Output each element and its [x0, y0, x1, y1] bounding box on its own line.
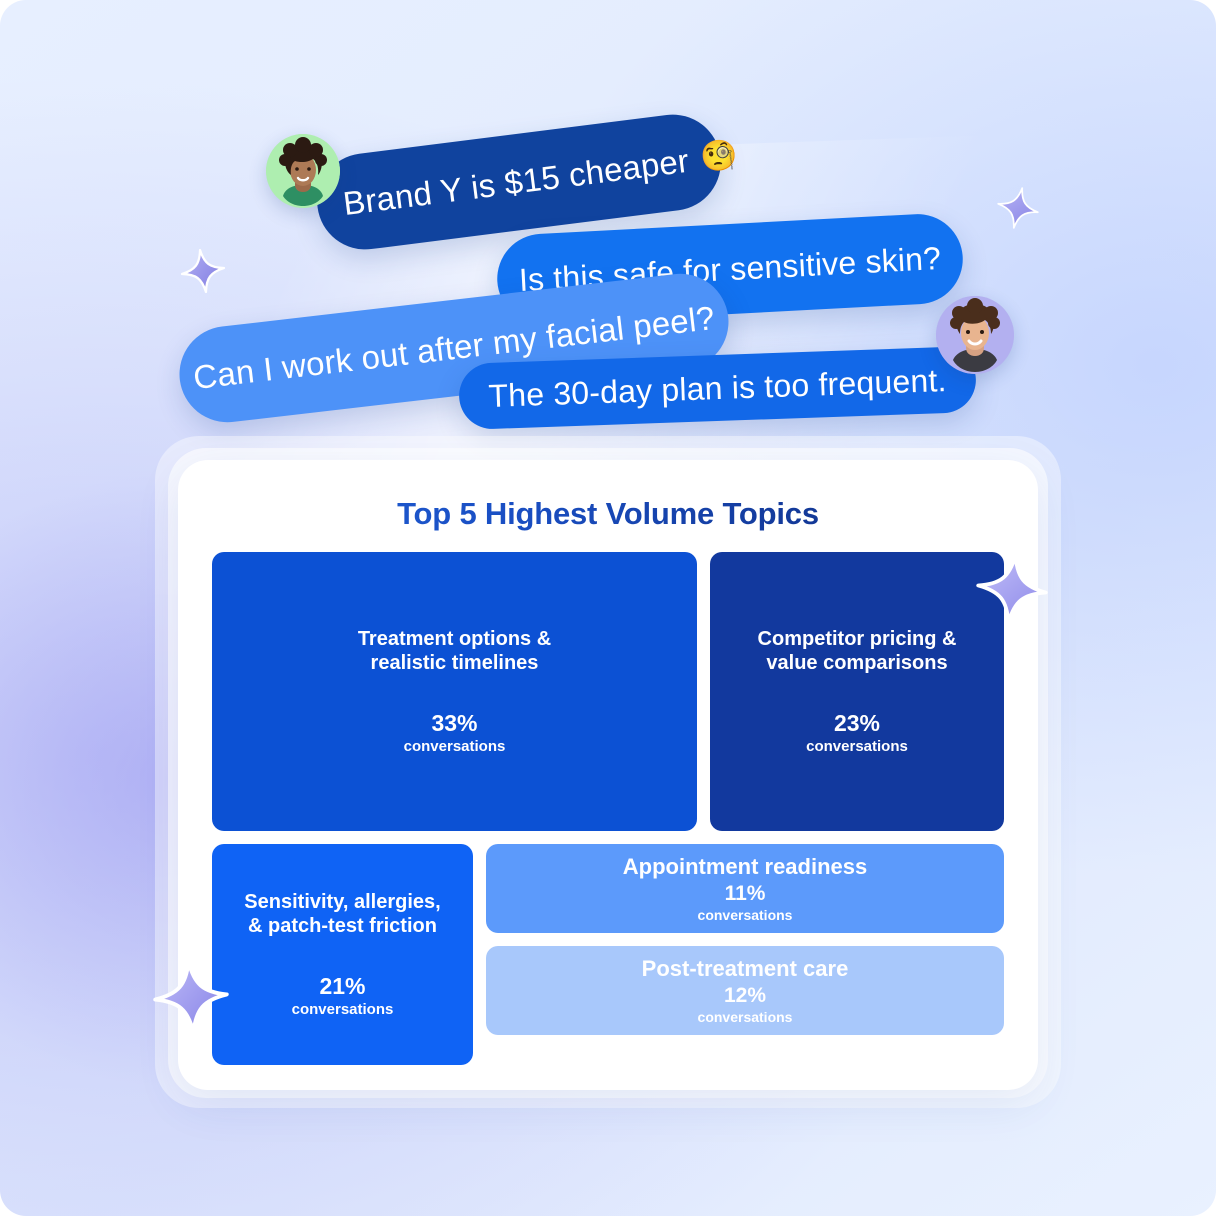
- treemap-tile-percent: 23%: [834, 710, 880, 737]
- chat-bubble-1-text: Brand Y is $15 cheaper: [341, 142, 691, 223]
- treemap-tile-percent: 21%: [319, 973, 365, 1000]
- treemap-tile-label: Post-treatment care: [642, 956, 849, 982]
- tile-label-line-1: Treatment options &: [358, 628, 551, 650]
- treemap-chart: Treatment options & realistic timelines …: [212, 552, 1004, 1065]
- treemap-tile-competitor-pricing[interactable]: Competitor pricing & value comparisons 2…: [710, 552, 1004, 831]
- treemap-tile-sensitivity-allergies[interactable]: Sensitivity, allergies, & patch-test fri…: [212, 844, 473, 1065]
- treemap-tile-percent: 11%: [725, 882, 766, 906]
- treemap-row-top: Treatment options & realistic timelines …: [212, 552, 1004, 831]
- treemap-tile-label: Treatment options & realistic timelines: [358, 628, 551, 675]
- treemap-tile-label: Sensitivity, allergies, & patch-test fri…: [244, 891, 440, 938]
- sparkle-icon: [992, 182, 1044, 234]
- treemap-column-right: Appointment readiness 11% conversations …: [486, 844, 1004, 1065]
- treemap-tile-post-treatment-care[interactable]: Post-treatment care 12% conversations: [486, 946, 1004, 1035]
- tile-label-line-1: Competitor pricing &: [758, 628, 957, 650]
- tile-label-line-2: realistic timelines: [371, 652, 539, 674]
- treemap-tile-unit: conversations: [292, 1001, 394, 1018]
- treemap-tile-percent: 12%: [724, 984, 766, 1008]
- tile-label-line-1: Sensitivity, allergies,: [244, 891, 440, 913]
- treemap-tile-appointment-readiness[interactable]: Appointment readiness 11% conversations: [486, 844, 1004, 933]
- avatar-man-curly-hair: [936, 296, 1014, 374]
- treemap-tile-unit: conversations: [698, 907, 793, 923]
- treemap-tile-percent: 33%: [431, 710, 477, 737]
- treemap-row-bottom: Sensitivity, allergies, & patch-test fri…: [212, 844, 1004, 1065]
- avatar-woman-curly-hair: [266, 134, 340, 208]
- treemap-tile-unit: conversations: [806, 738, 908, 755]
- treemap-tile-unit: conversations: [404, 738, 506, 755]
- tile-label-line-2: & patch-test friction: [248, 915, 437, 937]
- treemap-tile-label: Appointment readiness: [623, 854, 867, 880]
- page-title: Top 5 Highest Volume Topics: [178, 496, 1038, 532]
- chat-bubble-4-text: The 30-day plan is too frequent.: [488, 362, 947, 415]
- topics-card: Top 5 Highest Volume Topics Treatment op…: [178, 460, 1038, 1090]
- monocle-face-icon: 🧐: [699, 139, 740, 173]
- treemap-tile-unit: conversations: [698, 1009, 793, 1025]
- tile-label-line-2: value comparisons: [766, 652, 947, 674]
- treemap-tile-label: Competitor pricing & value comparisons: [758, 628, 957, 675]
- poster-canvas: Brand Y is $15 cheaper 🧐 Is this safe fo…: [0, 0, 1216, 1216]
- sparkle-icon: [177, 245, 229, 297]
- treemap-tile-treatment-options[interactable]: Treatment options & realistic timelines …: [212, 552, 697, 831]
